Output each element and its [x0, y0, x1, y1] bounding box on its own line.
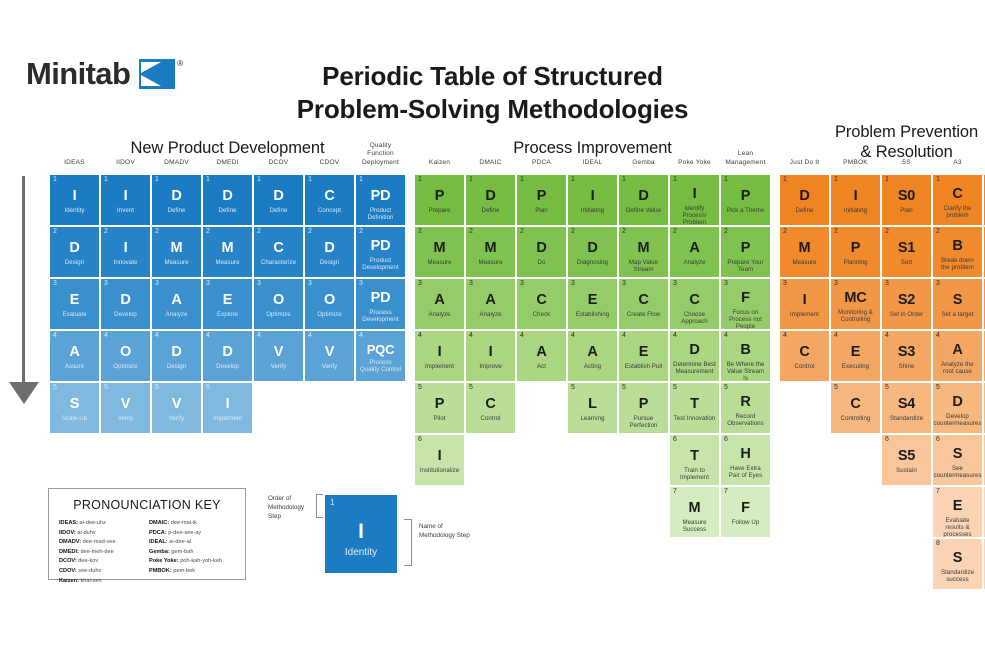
cell-step-name: Pursue Perfection	[621, 415, 666, 430]
cell-step-number: 5	[571, 384, 575, 391]
cell-step-name: Choose Approach	[672, 311, 717, 326]
cell-step-name: Measure	[477, 259, 503, 266]
cell-step-name: Standardize success	[935, 569, 980, 584]
element-cell[interactable]: 2MMeasure	[415, 227, 464, 277]
cell-symbol: P	[741, 241, 750, 256]
cell-step-name: Control	[794, 363, 816, 370]
pronunciation-term: CDOV:	[59, 568, 77, 574]
pronunciation-entry: IDEAL: ai-dee-al	[149, 538, 235, 548]
element-cell[interactable]: 3AAnalyze	[466, 279, 515, 329]
element-cell[interactable]: 2DDiagnosing	[568, 227, 617, 277]
cell-symbol: D	[222, 345, 232, 360]
element-cell[interactable]: 2DDo	[517, 227, 566, 277]
pronunciation-entry: DCOV: dee-kov	[59, 557, 145, 567]
element-cell[interactable]: 2DDesign	[50, 227, 99, 277]
pronunciation-say: p-dee-see-ay	[167, 530, 202, 536]
cell-symbol: MC	[844, 291, 866, 306]
element-cell[interactable]: 3AAnalyze	[152, 279, 201, 329]
cell-step-number: 2	[783, 228, 787, 235]
element-cell[interactable]: 3FFocus on Process not People	[721, 279, 770, 329]
element-cell[interactable]: 5RRecord Observations	[721, 383, 770, 433]
column-header-line: Deployment	[348, 159, 413, 167]
cell-step-number: 4	[155, 332, 159, 339]
cell-step-name: Learning	[579, 415, 605, 422]
cell-symbol: D	[324, 241, 334, 256]
cell-step-number: 8	[936, 540, 940, 547]
element-cell[interactable]: 3CCheck	[517, 279, 566, 329]
legend-sample-cell: 1 I Identity	[325, 495, 397, 573]
element-cell[interactable]: 5IImplement	[203, 383, 252, 433]
cell-step-number: 1	[724, 176, 728, 183]
cell-step-name: Design	[319, 259, 340, 266]
cell-step-name: Do	[537, 259, 547, 266]
element-cell[interactable]: 5VVerify	[152, 383, 201, 433]
cell-symbol: T	[690, 397, 699, 412]
pronunciation-entry: PDCA: p-dee-see-ay	[149, 529, 235, 539]
page-title: Periodic Table of Structured Problem-Sol…	[0, 60, 985, 127]
element-cell[interactable]: 3MCMonitoring & Controlling	[831, 279, 880, 329]
column-header-line: Lean	[713, 150, 778, 158]
cell-symbol: T	[690, 449, 699, 464]
pronunciation-term: Poke Yoke:	[149, 558, 179, 564]
pronunciation-term: DCOV:	[59, 558, 77, 564]
cell-step-number: 3	[724, 280, 728, 287]
cell-symbol: E	[851, 345, 860, 360]
cell-step-number: 2	[469, 228, 473, 235]
element-cell[interactable]: 3EEvaluate	[50, 279, 99, 329]
cell-step-name: Prepare Your Team	[723, 259, 768, 274]
cell-symbol: I	[438, 345, 442, 360]
element-cell[interactable]: 2AAnalyze	[670, 227, 719, 277]
element-cell[interactable]: 2MMeasure	[203, 227, 252, 277]
cell-symbol: D	[536, 241, 546, 256]
element-cell[interactable]: 2CCharacterize	[254, 227, 303, 277]
cell-symbol: C	[952, 187, 962, 202]
cell-step-name: Measure	[426, 259, 452, 266]
element-cell[interactable]: 1IIdentify Process/ Problem	[670, 175, 719, 225]
cell-symbol: A	[171, 293, 181, 308]
element-cell[interactable]: 4EExecuting	[831, 331, 880, 381]
element-cell[interactable]: 5PPursue Perfection	[619, 383, 668, 433]
cell-step-name: Analyze	[682, 259, 706, 266]
cell-step-number: 3	[834, 280, 838, 287]
cell-step-number: 4	[834, 332, 838, 339]
legend-right-bracket	[404, 519, 412, 566]
cell-step-name: Define Value	[625, 207, 662, 214]
element-cell[interactable]: 4BBe Where the Value Stream Is	[721, 331, 770, 381]
cell-step-number: 4	[936, 332, 940, 339]
cell-symbol: V	[274, 345, 283, 360]
pronunciation-term: IDEAS:	[59, 520, 78, 526]
element-cell[interactable]: 1PPlan	[517, 175, 566, 225]
cell-step-name: Implement	[424, 363, 455, 370]
cell-step-name: Explore	[216, 311, 239, 318]
cell-symbol: O	[120, 345, 131, 360]
element-cell[interactable]: 5DDevelop countermeasures	[933, 383, 982, 433]
cell-step-name: Define	[218, 207, 238, 214]
element-cell[interactable]: 3EExplore	[203, 279, 252, 329]
cell-step-name: Have Extra Pair of Eyes	[723, 465, 768, 480]
cell-step-number: 1	[834, 176, 838, 183]
cell-symbol: C	[799, 345, 809, 360]
cell-step-number: 2	[834, 228, 838, 235]
cell-symbol: V	[325, 345, 334, 360]
cell-symbol: V	[172, 397, 181, 412]
cell-step-name: Test Innovation	[673, 415, 717, 422]
element-cell[interactable]: 2MMeasure	[466, 227, 515, 277]
cell-step-name: Shine	[898, 363, 916, 370]
pronunciation-term: IIDOV:	[59, 530, 76, 536]
cell-symbol: D	[952, 395, 962, 410]
legend-name-label: Name of Methodology Step	[419, 522, 475, 540]
element-cell[interactable]: 1DDefine Value	[619, 175, 668, 225]
element-cell[interactable]: 4AAct	[517, 331, 566, 381]
element-cell[interactable]: 5VVerify	[101, 383, 150, 433]
cell-symbol: M	[799, 241, 811, 256]
cell-step-name: Measure Success	[672, 519, 717, 534]
cell-step-number: 2	[673, 228, 677, 235]
cell-step-number: 4	[520, 332, 524, 339]
cell-step-number: 4	[571, 332, 575, 339]
element-cell[interactable]: 6HHave Extra Pair of Eyes	[721, 435, 770, 485]
pronunciation-say: poh-kah-yoh-keh	[179, 558, 223, 564]
cell-step-name: Identify Process/ Problem	[672, 205, 717, 227]
pronunciation-entry: Gemba: gem-bah	[149, 548, 235, 558]
cell-step-number: 4	[673, 332, 677, 339]
cell-symbol: E	[588, 293, 597, 308]
cell-step-number: 2	[520, 228, 524, 235]
pronunciation-term: PDCA:	[149, 530, 167, 536]
cell-symbol: A	[485, 293, 495, 308]
element-cell[interactable]: 3EEstablishing	[568, 279, 617, 329]
element-cell[interactable]: 2PDProduct Development	[356, 227, 405, 277]
cell-symbol: O	[324, 293, 335, 308]
pronunciation-term: DMEDI:	[59, 549, 79, 555]
cell-step-number: 4	[783, 332, 787, 339]
element-cell[interactable]: 1CConcept	[305, 175, 354, 225]
element-cell[interactable]: 4EEstablish Pull	[619, 331, 668, 381]
element-cell[interactable]: 4AAnalyze the root cause	[933, 331, 982, 381]
cell-symbol: D	[799, 189, 809, 204]
cell-step-name: See countermeasures	[933, 465, 983, 480]
cell-step-name: Analyze the root cause	[935, 361, 980, 376]
element-cell[interactable]: 1IInitiating	[831, 175, 880, 225]
element-cell[interactable]: 5LLearning	[568, 383, 617, 433]
cell-symbol: P	[639, 397, 648, 412]
cell-step-name: Clarify the problem	[935, 205, 980, 220]
cell-step-name: Set a target	[940, 311, 974, 318]
pronunciation-term: Kaizen:	[59, 578, 79, 584]
cell-step-number: 1	[53, 176, 57, 183]
cell-step-number: 2	[359, 228, 363, 235]
cell-step-number: 5	[673, 384, 677, 391]
pronunciation-entry: Kaizen: khai-zen	[59, 577, 145, 587]
cell-step-number: 1	[206, 176, 210, 183]
cell-step-name: Assure	[64, 363, 85, 370]
cell-step-number: 3	[622, 280, 626, 287]
cell-step-name: Be Where the Value Stream Is	[723, 361, 768, 383]
cell-step-number: 4	[53, 332, 57, 339]
cell-step-number: 1	[155, 176, 159, 183]
element-cell[interactable]: 4OOptimize	[101, 331, 150, 381]
cell-symbol: D	[689, 343, 699, 358]
element-cell[interactable]: 2S1Sort	[882, 227, 931, 277]
cell-step-name: Verify	[321, 363, 339, 370]
cell-symbol: A	[536, 345, 546, 360]
cell-step-number: 5	[155, 384, 159, 391]
cell-step-name: Break down the problem	[935, 257, 980, 272]
cell-symbol: D	[587, 241, 597, 256]
cell-symbol: S	[953, 447, 962, 462]
cell-symbol: D	[485, 189, 495, 204]
element-cell[interactable]: 6IInstitutionalize	[415, 435, 464, 485]
element-cell[interactable]: 4DDevelop	[203, 331, 252, 381]
element-cell[interactable]: 4VVerify	[254, 331, 303, 381]
pronunciation-entry: Poke Yoke: poh-kah-yoh-keh	[149, 557, 235, 567]
element-cell[interactable]: 8SStandardize success	[933, 539, 982, 589]
cell-symbol: S1	[898, 241, 915, 256]
cell-step-name: Control	[480, 415, 502, 422]
element-cell[interactable]: 1PDProduct Definition	[356, 175, 405, 225]
pronunciation-say: dee-meh-dee	[79, 549, 114, 555]
pronunciation-entry: CDOV: see-duhv	[59, 567, 145, 577]
element-cell[interactable]: 3DDevelop	[101, 279, 150, 329]
cell-step-number: 5	[104, 384, 108, 391]
cell-symbol: PD	[371, 189, 391, 204]
element-cell[interactable]: 6SSee countermeasures	[933, 435, 982, 485]
pronunciation-key-right-column: DMAIC: dee-mai-ikPDCA: p-dee-see-ayIDEAL…	[145, 519, 235, 586]
cell-step-name: Analyze	[478, 311, 502, 318]
element-cell[interactable]: 4AActing	[568, 331, 617, 381]
element-cell[interactable]: 5PPilot	[415, 383, 464, 433]
cell-step-name: Monitoring & Controlling	[833, 309, 878, 324]
cell-symbol: P	[537, 189, 546, 204]
element-cell[interactable]: 4IImplement	[415, 331, 464, 381]
element-cell[interactable]: 3CCreate Flow	[619, 279, 668, 329]
cell-step-number: 1	[622, 176, 626, 183]
cell-step-name: Define	[269, 207, 289, 214]
cell-step-number: 3	[257, 280, 261, 287]
element-cell[interactable]: 2DDesign	[305, 227, 354, 277]
legend-sample-name: Identity	[325, 547, 397, 558]
element-cell[interactable]: 4VVerify	[305, 331, 354, 381]
element-cell[interactable]: 3OOptimize	[305, 279, 354, 329]
cell-step-name: Optimize	[112, 363, 138, 370]
element-cell[interactable]: 5S4Standardize	[882, 383, 931, 433]
element-cell[interactable]: 6S5Sustain	[882, 435, 931, 485]
element-cell[interactable]: 3CChoose Approach	[670, 279, 719, 329]
cell-step-number: 1	[936, 176, 940, 183]
cell-step-number: 5	[206, 384, 210, 391]
cell-step-number: 4	[418, 332, 422, 339]
pronunciation-say: ai-dee-al	[168, 539, 191, 545]
cell-step-number: 7	[673, 488, 677, 495]
cell-step-name: Scale-Up	[61, 415, 88, 422]
element-cell[interactable]: 1DDefine	[254, 175, 303, 225]
cell-step-number: 1	[673, 176, 677, 183]
column-header-line: 8D	[976, 159, 985, 167]
cell-symbol: S4	[898, 397, 915, 412]
cell-symbol: S5	[898, 449, 915, 464]
cell-symbol: I	[693, 187, 697, 202]
element-cell[interactable]: 1DDefine	[203, 175, 252, 225]
element-cell[interactable]: 5CControl	[466, 383, 515, 433]
cell-symbol: A	[434, 293, 444, 308]
cell-symbol: M	[689, 501, 701, 516]
cell-step-number: 3	[155, 280, 159, 287]
element-cell[interactable]: 3IImplement	[780, 279, 829, 329]
cell-step-number: 3	[359, 280, 363, 287]
pronunciation-say: gem-bah	[170, 549, 194, 555]
cell-symbol: E	[639, 345, 648, 360]
element-cell[interactable]: 6TTrain to Implement	[670, 435, 719, 485]
cell-step-number: 2	[206, 228, 210, 235]
element-cell[interactable]: 4PQCProcess Quality Control	[356, 331, 405, 381]
element-cell[interactable]: 1IIdentity	[50, 175, 99, 225]
element-cell[interactable]: 2PPlanning	[831, 227, 880, 277]
column-header-line: Function	[348, 150, 413, 158]
element-cell[interactable]: 3SSet a target	[933, 279, 982, 329]
element-cell[interactable]: 4DDesign	[152, 331, 201, 381]
element-cell[interactable]: 3OOptimize	[254, 279, 303, 329]
cell-step-number: 4	[469, 332, 473, 339]
element-cell[interactable]: 1IInitiating	[568, 175, 617, 225]
cell-symbol: D	[273, 189, 283, 204]
cell-symbol: D	[171, 189, 181, 204]
cell-step-name: Invent	[116, 207, 135, 214]
cell-step-name: Planning	[842, 259, 868, 266]
column-header-quality-function-deployment: QualityFunctionDeployment	[348, 142, 413, 167]
cell-symbol: I	[803, 293, 807, 308]
cell-step-number: 2	[622, 228, 626, 235]
pronunciation-say: see-duhv	[77, 568, 102, 574]
pronunciation-entry: DMADV: dee-mad-vee	[59, 538, 145, 548]
cell-step-number: 4	[104, 332, 108, 339]
cell-step-name: Define	[481, 207, 501, 214]
element-cell[interactable]: 4AAssure	[50, 331, 99, 381]
element-cell[interactable]: 1DDefine	[152, 175, 201, 225]
cell-step-name: Measure	[163, 259, 189, 266]
element-cell[interactable]: 7EEvaluate results & processes	[933, 487, 982, 537]
cell-step-name: Product Development	[358, 257, 403, 272]
element-cell[interactable]: 1DDefine	[466, 175, 515, 225]
element-cell[interactable]: 1IInvent	[101, 175, 150, 225]
element-cell[interactable]: 3S2Set in Order	[882, 279, 931, 329]
column-header-lean-management: LeanManagement	[713, 150, 778, 167]
cell-step-number: 3	[520, 280, 524, 287]
cell-step-name: Prepare	[427, 207, 451, 214]
cell-symbol: I	[591, 189, 595, 204]
cell-step-name: Develop	[215, 363, 240, 370]
element-cell[interactable]: 7MMeasure Success	[670, 487, 719, 537]
cell-symbol: M	[485, 241, 497, 256]
cell-symbol: M	[222, 241, 234, 256]
cell-symbol: E	[223, 293, 232, 308]
pronunciation-entry: IIDOV: ai-duhv	[59, 529, 145, 539]
cell-symbol: C	[850, 397, 860, 412]
pronunciation-say: dee-mad-vee	[81, 539, 116, 545]
group-title-ppr: Problem Prevention& Resolution	[780, 122, 985, 163]
cell-step-number: 3	[308, 280, 312, 287]
pronunciation-say: dee-mai-ik	[169, 520, 197, 526]
cell-symbol: C	[689, 293, 699, 308]
cell-step-number: 3	[936, 280, 940, 287]
element-cell[interactable]: 5SScale-Up	[50, 383, 99, 433]
pronunciation-term: DMADV:	[59, 539, 81, 545]
cell-symbol: S0	[898, 189, 915, 204]
cell-step-number: 2	[257, 228, 261, 235]
cell-step-name: Follow Up	[731, 519, 761, 526]
cell-symbol: C	[638, 293, 648, 308]
cell-step-name: Plan	[899, 207, 913, 214]
cell-step-name: Diagnosing	[576, 259, 609, 266]
cell-step-number: 2	[936, 228, 940, 235]
legend-sample-number: 1	[330, 498, 334, 507]
cell-step-number: 7	[724, 488, 728, 495]
element-cell[interactable]: 5TTest Innovation	[670, 383, 719, 433]
cell-step-number: 5	[834, 384, 838, 391]
element-cell[interactable]: 1S0Plan	[882, 175, 931, 225]
cell-step-number: 3	[469, 280, 473, 287]
cell-step-number: 3	[418, 280, 422, 287]
element-cell[interactable]: 1PPrepare	[415, 175, 464, 225]
element-cell[interactable]: 2MMeasure	[152, 227, 201, 277]
cell-step-name: Institutionalize	[419, 467, 460, 474]
cell-symbol: D	[120, 293, 130, 308]
cell-step-number: 1	[571, 176, 575, 183]
cell-step-name: Process Quality Control	[358, 359, 403, 374]
element-cell[interactable]: 1CClarify the problem	[933, 175, 982, 225]
cell-symbol: P	[851, 241, 860, 256]
cell-step-number: 6	[724, 436, 728, 443]
element-cell[interactable]: 4DDetermine Best Measurement	[670, 331, 719, 381]
element-cell[interactable]: 5CControlling	[831, 383, 880, 433]
element-cell[interactable]: 2PPrepare Your Team	[721, 227, 770, 277]
element-cell[interactable]: 4CControl	[780, 331, 829, 381]
order-arrow-shaft	[22, 176, 25, 386]
cell-step-name: Record Observations	[723, 413, 768, 428]
cell-step-name: Innovate	[113, 259, 139, 266]
cell-step-name: Pilot	[432, 415, 446, 422]
element-cell[interactable]: 7FFollow Up	[721, 487, 770, 537]
element-cell[interactable]: 4S3Shine	[882, 331, 931, 381]
element-cell[interactable]: 3PDProcess Development	[356, 279, 405, 329]
pronunciation-key-title: PRONOUNCIATION KEY	[49, 498, 245, 512]
cell-symbol: E	[953, 499, 962, 514]
element-cell[interactable]: 2IInnovate	[101, 227, 150, 277]
pronunciation-key: PRONOUNCIATION KEY IDEAS: ai-dee-uhzIIDO…	[48, 488, 246, 580]
cell-step-name: Measure	[791, 259, 817, 266]
cell-symbol: E	[70, 293, 79, 308]
pronunciation-entry: DMEDI: dee-meh-dee	[59, 548, 145, 558]
title-line-1: Periodic Table of Structured	[322, 61, 663, 91]
element-cell[interactable]: 2BBreak down the problem	[933, 227, 982, 277]
element-cell[interactable]: 2MMeasure	[780, 227, 829, 277]
cell-step-number: 4	[885, 332, 889, 339]
element-cell[interactable]: 3AAnalyze	[415, 279, 464, 329]
element-cell[interactable]: 1PPick a Theme	[721, 175, 770, 225]
cell-step-number: 6	[885, 436, 889, 443]
pronunciation-say: khai-zen	[79, 578, 102, 584]
pronunciation-term: PMBOK:	[149, 568, 172, 574]
cell-step-name: Initiating	[843, 207, 868, 214]
cell-step-name: Analyze	[164, 311, 188, 318]
element-cell[interactable]: 4IImprove	[466, 331, 515, 381]
element-cell[interactable]: 1DDefine	[780, 175, 829, 225]
column-header-line: Management	[713, 159, 778, 167]
cell-step-number: 3	[571, 280, 575, 287]
element-cell[interactable]: 2MMap Value Stream	[619, 227, 668, 277]
